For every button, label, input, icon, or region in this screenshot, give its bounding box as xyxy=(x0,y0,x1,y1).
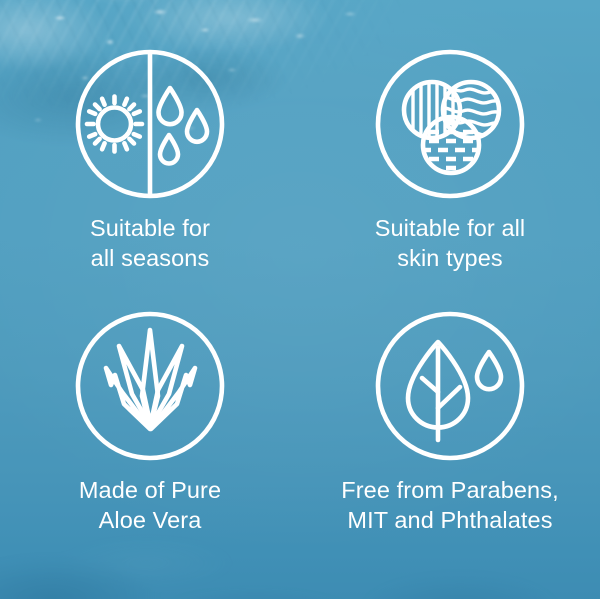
badge-item-skin-types: Suitable for all skin types xyxy=(300,48,600,273)
badge-item-seasons: Suitable for all seasons xyxy=(0,48,300,273)
badge-item-aloe-vera: Made of Pure Aloe Vera xyxy=(0,310,300,535)
badge-label-skin-types: Suitable for all skin types xyxy=(375,214,526,273)
badge-label-aloe-vera: Made of Pure Aloe Vera xyxy=(79,476,221,535)
sun-and-water-drops-split-circle-icon xyxy=(74,48,226,200)
badge-grid: Suitable for all seasons xyxy=(0,0,600,599)
badge-item-free-from: Free from Parabens, MIT and Phthalates xyxy=(300,310,600,535)
aloe-vera-plant-icon xyxy=(74,310,226,462)
three-skin-texture-circles-icon xyxy=(374,48,526,200)
badge-label-free-from: Free from Parabens, MIT and Phthalates xyxy=(341,476,558,535)
badge-label-seasons: Suitable for all seasons xyxy=(90,214,210,273)
product-feature-badges-panel: Suitable for all seasons xyxy=(0,0,600,599)
leaf-and-drop-icon xyxy=(374,310,526,462)
